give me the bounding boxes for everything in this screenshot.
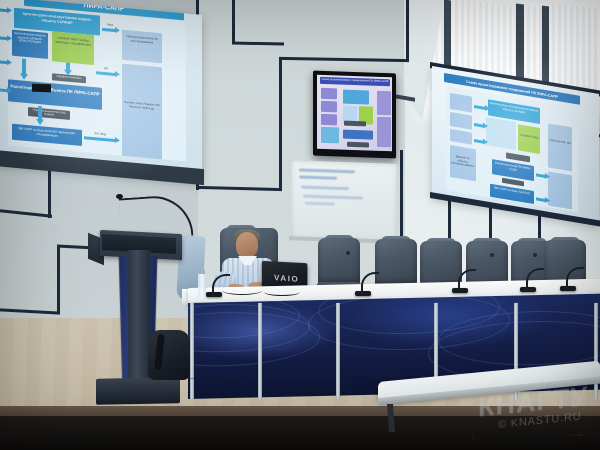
whiteboard-writing <box>301 185 349 189</box>
whiteboard <box>291 160 397 242</box>
slide-arrow <box>0 59 8 64</box>
wall-groove <box>406 0 409 62</box>
right-block-5-label: Чертежи КЖ, КМ <box>548 137 572 159</box>
wall-groove <box>57 246 60 314</box>
tv-block <box>321 114 337 126</box>
slide-block-7-label: Чертежи схем, Разрезы КЖ, Монолит, АСВ и… <box>122 100 162 124</box>
slide-arrow <box>0 87 8 92</box>
chair-button <box>346 251 350 255</box>
whiteboard-writing <box>305 202 335 206</box>
cable <box>264 288 300 296</box>
table-panel-trim <box>258 303 262 399</box>
lectern-column <box>128 250 150 382</box>
slide-block-2-label: Архитектурная модель объекта САПФИР-КОНС… <box>12 31 48 59</box>
slide-block-6-label: Таблица результатов 3D конструирования <box>122 34 162 64</box>
tv-block <box>347 142 369 148</box>
tv-block <box>343 130 373 140</box>
right-block-5b <box>548 171 572 209</box>
whiteboard-writing <box>303 195 363 200</box>
wall-mounted-tv: Схема проектирования с применением ПК ЛИ… <box>313 71 396 159</box>
table-panel-trim <box>336 303 340 399</box>
laptop-brand-logo: VAIO <box>274 273 298 284</box>
wall-groove <box>232 0 235 44</box>
slide-arrow <box>0 35 8 40</box>
slide-arrow <box>0 7 8 12</box>
water-bottle-cap <box>199 269 205 274</box>
stage-front-dark <box>0 416 600 450</box>
chair-button <box>533 253 537 257</box>
cable <box>222 286 262 295</box>
tv-block <box>321 101 337 113</box>
conference-hall-photo: ЛИРА-САПР Архитектурно-конструктивная мо… <box>0 0 600 450</box>
slide-block-3-label: САПФИР-ЖБК Подбор арматуры, спецификации <box>52 35 94 65</box>
tv-screen: Схема проектирования с применением ПК ЛИ… <box>317 75 392 152</box>
whiteboard-writing <box>299 175 337 179</box>
lectern-base <box>96 377 180 404</box>
right-block-6-label: Данные по объекту, исходные данные <box>450 153 476 179</box>
tv-block <box>377 117 391 147</box>
table-panel-trim <box>190 303 194 399</box>
floor-cable <box>184 368 244 381</box>
tv-block <box>344 121 366 127</box>
right-block-2-label: САПФИР-ЖБК <box>518 132 540 152</box>
slide-arrow <box>22 59 26 75</box>
chair-button <box>490 253 494 257</box>
tv-block <box>321 127 339 144</box>
tv-block <box>343 90 369 105</box>
right-block-inner <box>486 117 516 150</box>
slide-arrow <box>38 106 42 120</box>
tv-stand <box>32 84 51 93</box>
tv-block <box>321 88 337 100</box>
tv-block <box>377 91 391 115</box>
lectern-microphone-head <box>116 194 123 199</box>
slide-arrow <box>66 63 70 71</box>
chair-back <box>375 239 417 287</box>
tv-slide-title: Схема проектирования с применением ПК ЛИ… <box>320 77 390 86</box>
whiteboard-writing <box>299 168 355 173</box>
table-panel-trim <box>594 303 598 399</box>
water-bottle <box>198 272 206 298</box>
chair-back <box>318 238 360 286</box>
wall-groove <box>279 58 282 190</box>
